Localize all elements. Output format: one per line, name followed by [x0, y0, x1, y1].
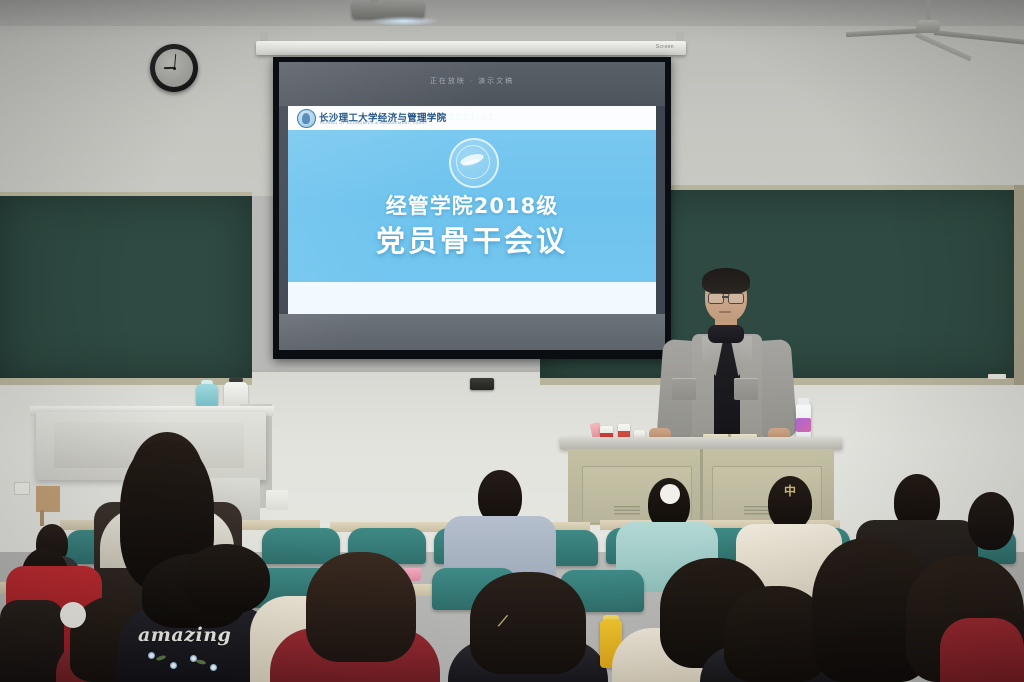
slide-title-line1: 经管学院2018级	[288, 190, 656, 220]
desk-vent	[614, 506, 640, 516]
water-bottle-cap	[798, 398, 809, 405]
clock-center-dot	[173, 67, 176, 70]
slide-content: 长沙理工大学经济与管理学院 SCHOOL OF ECONOMICS & MANA…	[288, 106, 656, 314]
desk-vent	[744, 506, 770, 516]
wall-clock	[150, 44, 198, 92]
blackboard-frame-right-edge	[1014, 185, 1024, 385]
presenter-pocket-right	[734, 378, 758, 400]
slide-footer	[288, 282, 656, 314]
clock-face	[155, 49, 193, 87]
screen-surface: 正在放映 · 演示文稿 长沙理工大学经济与管理学院 SCHOOL OF ECON…	[279, 62, 665, 350]
projection-screen: 正在放映 · 演示文稿 长沙理工大学经济与管理学院 SCHOOL OF ECON…	[273, 57, 671, 359]
chalk-stick	[988, 374, 1006, 379]
slide-title-line2: 党员骨干会议	[288, 218, 656, 260]
blackboard-eraser	[470, 378, 494, 390]
ceiling-fan-rod	[926, 0, 931, 22]
ceiling-fan-icon	[916, 20, 940, 33]
jacket-print-text: amazing	[138, 624, 231, 646]
presenter-turtleneck	[708, 325, 744, 343]
hair-clip-icon: ⟋	[498, 614, 508, 630]
wall-socket	[14, 482, 30, 495]
hair-scrunchie	[660, 484, 680, 504]
student-head	[306, 552, 416, 662]
clock-minute-hand	[174, 54, 176, 68]
student-head	[182, 544, 270, 614]
screen-top-text: 正在放映 · 演示文稿	[279, 76, 665, 86]
student-body	[940, 618, 1024, 682]
ceiling	[0, 0, 1024, 26]
seat	[262, 528, 340, 564]
student-head	[968, 492, 1014, 550]
embroidery-flower	[148, 652, 155, 659]
presenter-hair	[702, 268, 750, 294]
screen-bottom-band	[279, 314, 665, 350]
eyeglasses-bridge	[722, 296, 728, 298]
lecture-hall-photo: Screen 正在放映 · 演示文稿 长沙理工大学经济与管理学院 SCHOOL …	[0, 0, 1024, 682]
wall-box	[266, 490, 288, 510]
presenter-pocket-left	[672, 378, 696, 400]
university-emblem-icon	[449, 138, 499, 188]
slide-date: 2021.01	[288, 112, 656, 122]
projector-screen-housing: Screen	[256, 41, 686, 55]
student-head	[470, 572, 586, 674]
screen-brand-label: Screen	[656, 44, 674, 50]
hair-clip-icon: 中	[784, 482, 796, 499]
presenter-mouth	[719, 311, 731, 313]
embroidery-flower	[190, 655, 197, 662]
teachers-desk-top	[560, 437, 842, 449]
desk-seam	[700, 449, 703, 525]
water-bottle-label	[796, 418, 811, 432]
wooden-stool	[36, 486, 60, 512]
eyeglasses-icon	[708, 293, 724, 304]
embroidery-flower	[170, 662, 177, 669]
stool-leg	[40, 510, 44, 526]
projector-lens-glow	[368, 16, 440, 26]
eyeglasses-icon	[728, 293, 744, 304]
blackboard-left	[0, 196, 252, 378]
screen-top-band: 正在放映 · 演示文稿	[279, 62, 665, 106]
slide-body: 经管学院2018级 党员骨干会议 2021.01	[288, 130, 656, 282]
student-hair	[0, 600, 64, 682]
embroidery-flower	[210, 664, 217, 671]
hair-scrunchie	[60, 602, 86, 628]
